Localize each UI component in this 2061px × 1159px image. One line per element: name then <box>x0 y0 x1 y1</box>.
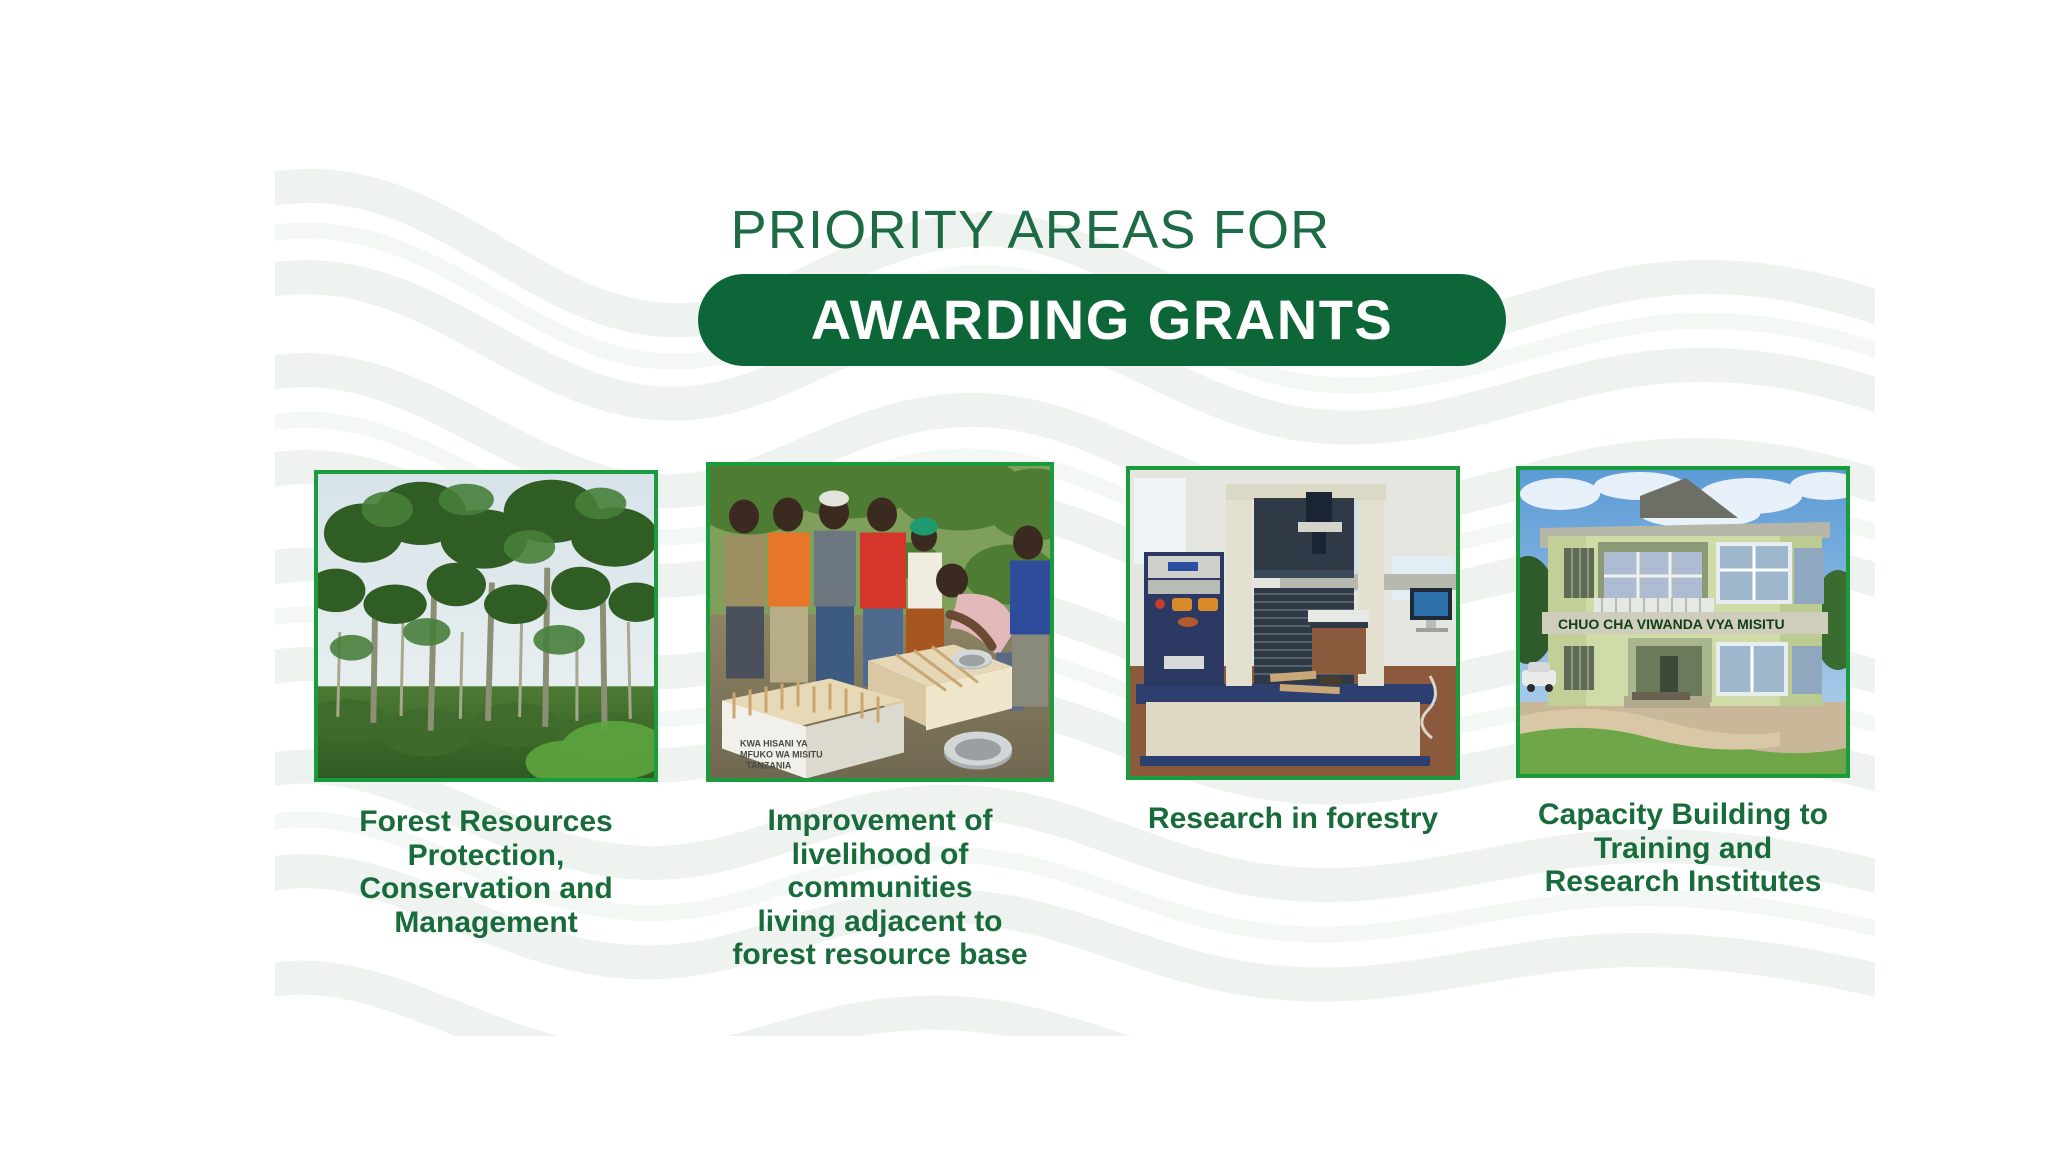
teak-plantation-photo <box>314 470 658 782</box>
priority-card-research: Research in forestry <box>1126 470 1460 836</box>
priority-card-capacity-building: CHUO CHA VIWANDA VYA MISITU <box>1516 470 1850 899</box>
card-caption: Forest Resources Protection, Conservatio… <box>314 805 658 939</box>
svg-text:TANZANIA: TANZANIA <box>746 761 792 771</box>
beehive-sign-text: KWA HISANI YA <box>740 739 808 749</box>
training-institute-building-photo: CHUO CHA VIWANDA VYA MISITU <box>1516 466 1850 778</box>
priority-areas-row: Forest Resources Protection, Conservatio… <box>0 470 2061 990</box>
priority-card-livelihood: KWA HISANI YA MFUKO WA MISITU TANZANIA I… <box>706 470 1054 972</box>
card-caption: Improvement of livelihood of communities… <box>706 804 1054 972</box>
card-caption: Research in forestry <box>1126 802 1460 836</box>
card-caption: Capacity Building to Training and Resear… <box>1516 798 1850 899</box>
building-sign-text: CHUO CHA VIWANDA VYA MISITU <box>1558 616 1785 632</box>
universal-testing-machine-photo <box>1126 466 1460 780</box>
priority-card-forest-resources: Forest Resources Protection, Conservatio… <box>314 470 658 939</box>
svg-text:MFUKO WA MISITU: MFUKO WA MISITU <box>740 750 823 760</box>
slide-canvas: PRIORITY AREAS FOR AWARDING GRANTS <box>0 0 2061 1159</box>
community-beekeeping-photo: KWA HISANI YA MFUKO WA MISITU TANZANIA <box>706 462 1054 782</box>
